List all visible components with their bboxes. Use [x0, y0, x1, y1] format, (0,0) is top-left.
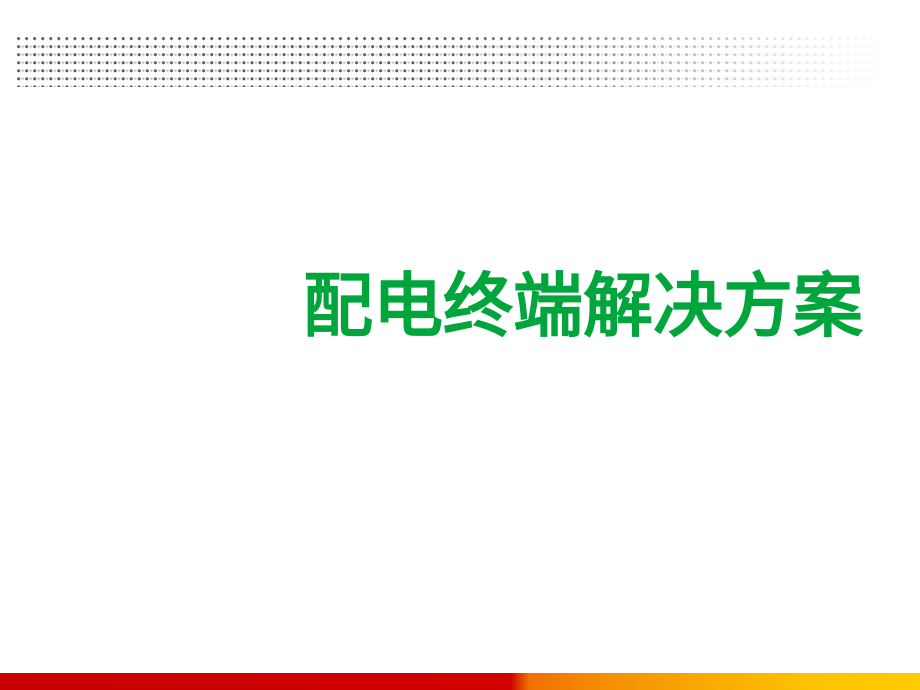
presentation-slide: 配电终端解决方案 — [0, 0, 920, 690]
halftone-dot-band-soft-icon — [17, 41, 897, 87]
bottom-accent-bar — [0, 673, 920, 690]
slide-title: 配电终端解决方案 — [303, 266, 883, 350]
halftone-dot-band-icon — [17, 37, 897, 87]
